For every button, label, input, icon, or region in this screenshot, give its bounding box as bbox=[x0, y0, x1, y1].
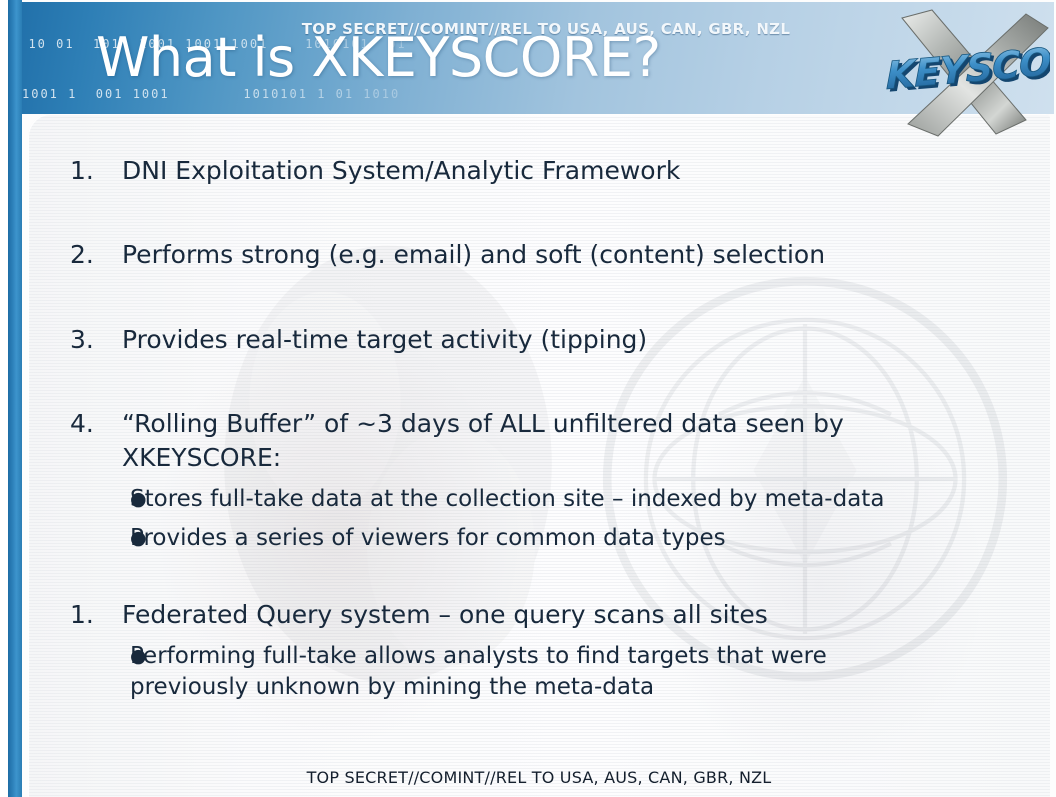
list-item: 2. Performs strong (e.g. email) and soft… bbox=[56, 238, 825, 272]
list-item-sub-bullet: ● Stores full-take data at the collectio… bbox=[56, 484, 884, 515]
slide-content-panel: 1. DNI Exploitation System/Analytic Fram… bbox=[28, 114, 1050, 797]
left-outer-margin bbox=[0, 0, 8, 797]
list-item: 4. “Rolling Buffer” of ~3 days of ALL un… bbox=[56, 407, 1016, 475]
list-item: 1. DNI Exploitation System/Analytic Fram… bbox=[56, 154, 680, 188]
sub-bullet-text: Performing full-take allows analysts to … bbox=[130, 641, 950, 703]
xkeyscore-logo-icon: KEYSCORE KEYSCORE bbox=[880, 0, 1050, 146]
classification-banner-bottom: TOP SECRET//COMINT//REL TO USA, AUS, CAN… bbox=[28, 768, 1050, 787]
list-item-number: 1. bbox=[56, 154, 122, 188]
list-item: 3. Provides real-time target activity (t… bbox=[56, 323, 647, 357]
list-item-text: “Rolling Buffer” of ~3 days of ALL unfil… bbox=[122, 407, 982, 475]
bullet-dot-icon: ● bbox=[56, 484, 130, 515]
bullet-dot-icon: ● bbox=[56, 641, 130, 672]
list-item-number: 4. bbox=[56, 407, 122, 441]
left-edge-accent-strip bbox=[8, 0, 22, 797]
list-item-text: Provides real-time target activity (tipp… bbox=[122, 323, 647, 357]
list-item-number: 1. bbox=[56, 598, 122, 632]
sub-bullet-text: Provides a series of viewers for common … bbox=[130, 523, 726, 554]
slide: 0 10 01 101 1001 1001 1001 1010101 01 10… bbox=[0, 0, 1056, 797]
list-item: 1. Federated Query system – one query sc… bbox=[56, 598, 768, 632]
list-item-text: Federated Query system – one query scans… bbox=[122, 598, 768, 632]
list-item-sub-bullet: ● Performing full-take allows analysts t… bbox=[56, 641, 976, 703]
bullet-dot-icon: ● bbox=[56, 523, 130, 554]
list-item-text: Performs strong (e.g. email) and soft (c… bbox=[122, 238, 825, 272]
page-title: What is XKEYSCORE? bbox=[96, 30, 661, 87]
sub-bullet-text: Stores full-take data at the collection … bbox=[130, 484, 884, 515]
list-item-text: DNI Exploitation System/Analytic Framewo… bbox=[122, 154, 680, 188]
list-item-number: 3. bbox=[56, 323, 122, 357]
list-item-sub-bullet: ● Provides a series of viewers for commo… bbox=[56, 523, 726, 554]
list-item-number: 2. bbox=[56, 238, 122, 272]
